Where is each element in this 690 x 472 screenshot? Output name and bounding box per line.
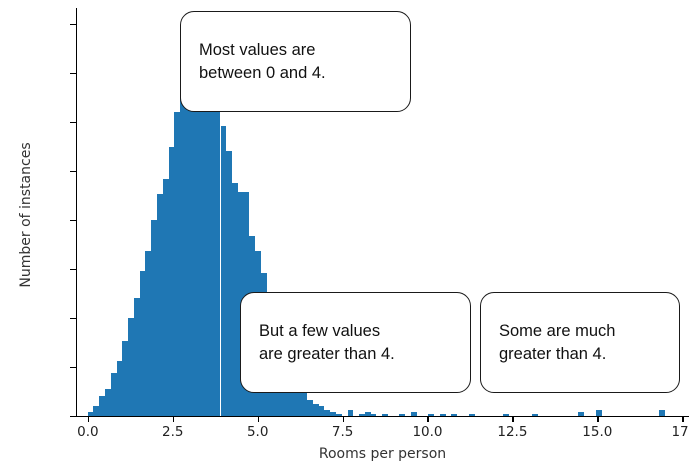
histogram-bar [532,414,538,416]
histogram-bar [382,414,388,416]
x-axis-tick-label: 5.0 [247,424,268,440]
x-axis-tick-label: 2.5 [162,424,183,440]
histogram-bar [451,414,457,416]
annotation-callout: Most values are between 0 and 4. [180,11,411,112]
x-axis-tick-label: 17. [671,424,690,440]
histogram-bar [399,414,405,416]
x-axis-tick-label: 12.5 [497,424,527,440]
histogram-bar [596,410,602,416]
x-axis-label: Rooms per person [76,446,689,462]
y-axis-label: Number of instances [18,14,38,416]
histogram-bar [371,414,377,416]
histogram-bar [348,410,354,416]
histogram-bar [411,412,417,416]
histogram-bar [469,414,475,416]
x-axis-tick-label: 15.0 [582,424,612,440]
annotation-callout: But a few values are greater than 4. [240,292,471,393]
x-axis-tick-label: 7.5 [332,424,353,440]
histogram-bar [503,414,509,416]
histogram-figure: Number of instances 02550751001251501752… [0,0,690,472]
histogram-bar [659,410,665,416]
x-axis-tick-label: 10.0 [412,424,442,440]
x-axis-tick-label: 0.0 [77,424,98,440]
histogram-bar [428,414,434,416]
histogram-bar [336,414,342,416]
histogram-bar [578,412,584,416]
histogram-bar [440,414,446,416]
annotation-callout: Some are much greater than 4. [480,292,680,393]
